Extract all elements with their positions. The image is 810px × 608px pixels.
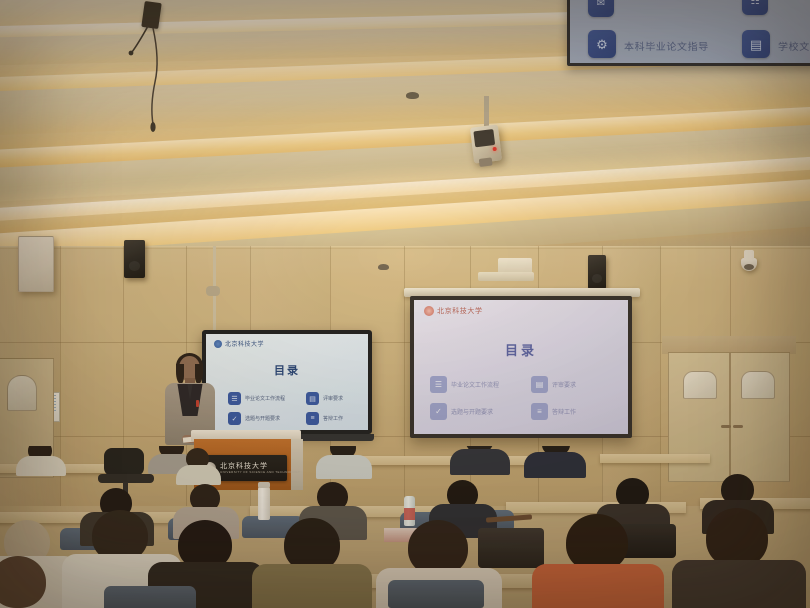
list-icon: ☰ (430, 376, 447, 393)
mail-icon: ✉ (588, 0, 614, 17)
tv-tile-2[interactable]: ☷ (742, 0, 768, 15)
chair-back (104, 586, 196, 608)
toc-item-proj-3: ≡ 答辩工作 (531, 403, 576, 420)
toc-text-led-0: 毕业论文工作流程 (245, 395, 285, 402)
toc-item-led-0: ☰ 毕业论文工作流程 (228, 392, 285, 405)
check-icon: ✓ (430, 403, 447, 420)
toc-text-proj-1: 评审要求 (552, 380, 576, 389)
audience-person (526, 446, 582, 474)
document-icon: ▤ (742, 30, 770, 58)
grid-icon: ▤ (306, 392, 319, 405)
slide-logo-proj: 北京科技大学 (424, 306, 483, 316)
gear-icon: ⚙ (588, 30, 616, 58)
audience-person (0, 556, 70, 608)
slide-logo-text-led: 北京科技大学 (225, 339, 264, 348)
projector-shelf (478, 272, 534, 281)
toc-item-led-3: ≡ 答辩工作 (306, 412, 343, 425)
toc-text-proj-3: 答辩工作 (552, 407, 576, 416)
wall-sensor (378, 264, 389, 270)
university-logo-icon (424, 306, 434, 316)
tv-tile-3[interactable]: ▤ (742, 30, 770, 58)
tv-tile-0[interactable]: ✉ (588, 0, 614, 17)
slide-title-led: 目录 (206, 362, 368, 378)
audience-person (18, 446, 64, 474)
led-flat-panel-display[interactable]: 北京科技大学 目录 ☰ 毕业论文工作流程 ✓ 选题与开题要求 ▤ 评审要求 ≡ … (202, 330, 372, 434)
ceiling-projector (470, 124, 502, 163)
toc-text-proj-0: 毕业论文工作流程 (451, 380, 499, 389)
toc-text-led-3: 答辩工作 (323, 415, 343, 422)
lines-icon: ≡ (306, 412, 319, 425)
thermos-bottle (258, 486, 270, 520)
toc-item-proj-1: ▤ 评审要求 (531, 376, 576, 393)
toc-item-proj-2: ✓ 选题与开题要求 (430, 403, 493, 420)
toc-text-led-1: 评审要求 (323, 395, 343, 402)
dome-camera-mount (744, 250, 754, 260)
thermos-cap (258, 482, 270, 488)
projection-screen-frame: 北京科技大学 目录 ☰ 毕业论文工作流程 ✓ 选题与开题要求 ▤ 评审要求 ≡ … (410, 296, 632, 438)
toc-item-proj-0: ☰ 毕业论文工作流程 (430, 376, 499, 393)
lines-icon: ≡ (531, 403, 548, 420)
audience-person (452, 446, 506, 472)
desk (600, 454, 710, 463)
list-icon: ☰ (228, 392, 241, 405)
white-wall-cabinet (18, 236, 54, 292)
toc-item-led-1: ▤ 评审要求 (306, 392, 343, 405)
projection-slide: 北京科技大学 目录 ☰ 毕业论文工作流程 ✓ 选题与开题要求 ▤ 评审要求 ≡ … (414, 300, 628, 434)
ceiling-smoke-detector (406, 92, 419, 99)
led-slide: 北京科技大学 目录 ☰ 毕业论文工作流程 ✓ 选题与开题要求 ▤ 评审要求 ≡ … (206, 334, 368, 430)
slide-title-proj: 目录 (414, 340, 628, 359)
audience-person (682, 508, 794, 608)
audience-person (542, 514, 654, 608)
slide-logo-led: 北京科技大学 (214, 339, 264, 348)
toc-item-led-2: ✓ 选题与开题要求 (228, 412, 280, 425)
mic-head (206, 286, 220, 296)
check-icon: ✓ (228, 412, 241, 425)
slide-logo-text-proj: 北京科技大学 (437, 306, 483, 316)
lecture-hall-photo: ✉ ⚙ 本科毕业论文指导 ☷ ▤ 学校文件 (0, 0, 810, 608)
toc-text-led-2: 选题与开题要求 (245, 415, 280, 422)
audience-person (178, 448, 218, 482)
chair-back (388, 580, 484, 608)
tv-tile-1[interactable]: ⚙ (588, 30, 616, 58)
wall-display-top-right[interactable]: ✉ ⚙ 本科毕业论文指导 ☷ ▤ 学校文件 (567, 0, 810, 66)
tv-tile-label-3: 学校文件 (778, 38, 810, 52)
grid-icon: ▤ (531, 376, 548, 393)
university-logo-icon (214, 340, 222, 348)
audience-person (262, 518, 362, 608)
bottle-label (404, 508, 415, 520)
tv-tile-label-1: 本科毕业论文指导 (624, 38, 709, 52)
list-icon: ☷ (742, 0, 768, 15)
wall-speaker-right (588, 255, 606, 289)
wall-speaker-left (124, 240, 145, 278)
audience-area (0, 446, 810, 608)
hanging-cable-icon (120, 20, 190, 140)
toc-text-proj-2: 选题与开题要求 (451, 407, 493, 416)
audience-person (318, 446, 368, 476)
